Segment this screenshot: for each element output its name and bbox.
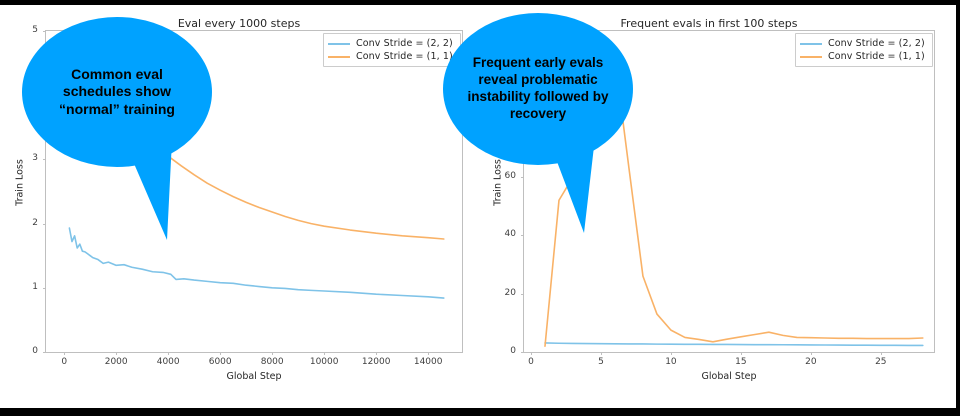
x-tick-label: 10000 xyxy=(299,357,349,367)
x-tick-mark xyxy=(376,352,377,355)
left-legend: Conv Stride = (2, 2) Conv Stride = (1, 1… xyxy=(323,33,461,67)
x-tick-label: 20 xyxy=(786,357,836,367)
x-tick-label: 4000 xyxy=(143,357,193,367)
legend-label: Conv Stride = (1, 1) xyxy=(356,51,453,62)
legend-item-conv-stride-2-2[interactable]: Conv Stride = (2, 2) xyxy=(328,37,455,50)
legend-label: Conv Stride = (2, 2) xyxy=(356,38,453,49)
legend-label: Conv Stride = (2, 2) xyxy=(828,38,925,49)
callout-left: Common eval schedules show “normal” trai… xyxy=(22,17,212,167)
y-tick-mark xyxy=(43,31,46,32)
legend-swatch-blue xyxy=(800,43,822,45)
x-tick-label: 5 xyxy=(576,357,626,367)
right-legend: Conv Stride = (2, 2) Conv Stride = (1, 1… xyxy=(795,33,933,67)
left-xaxis-label: Global Step xyxy=(45,371,463,382)
x-tick-label: 15 xyxy=(716,357,766,367)
callout-right-text: Frequent early evals reveal problematic … xyxy=(443,55,633,123)
legend-item-conv-stride-1-1[interactable]: Conv Stride = (1, 1) xyxy=(328,50,455,63)
right-xaxis-label: Global Step xyxy=(523,371,935,382)
callout-right: Frequent early evals reveal problematic … xyxy=(443,13,633,165)
y-tick-mark xyxy=(43,159,46,160)
legend-swatch-orange xyxy=(328,56,350,58)
x-tick-label: 0 xyxy=(506,357,556,367)
x-tick-mark xyxy=(531,352,532,355)
legend-item-conv-stride-1-1[interactable]: Conv Stride = (1, 1) xyxy=(800,50,927,63)
x-tick-mark xyxy=(881,352,882,355)
y-tick-mark xyxy=(521,294,524,295)
y-tick-label: 0 xyxy=(476,346,516,356)
x-tick-mark xyxy=(272,352,273,355)
slide-canvas: Eval every 1000 steps 020004000600080001… xyxy=(0,5,956,408)
left-yaxis-label: Train Loss xyxy=(15,133,26,233)
x-tick-label: 25 xyxy=(856,357,906,367)
y-tick-mark xyxy=(43,352,46,353)
y-tick-label: 5 xyxy=(0,25,38,35)
x-tick-mark xyxy=(601,352,602,355)
x-tick-label: 2000 xyxy=(91,357,141,367)
legend-swatch-orange xyxy=(800,56,822,58)
x-tick-label: 12000 xyxy=(351,357,401,367)
x-tick-mark xyxy=(220,352,221,355)
callout-left-text: Common eval schedules show “normal” trai… xyxy=(22,66,212,119)
x-tick-mark xyxy=(428,352,429,355)
y-tick-mark xyxy=(43,288,46,289)
y-tick-label: 1 xyxy=(0,282,38,292)
legend-item-conv-stride-2-2[interactable]: Conv Stride = (2, 2) xyxy=(800,37,927,50)
x-tick-mark xyxy=(168,352,169,355)
x-tick-label: 14000 xyxy=(403,357,453,367)
x-tick-label: 10 xyxy=(646,357,696,367)
y-tick-mark xyxy=(521,352,524,353)
x-tick-mark xyxy=(324,352,325,355)
x-tick-label: 0 xyxy=(39,357,89,367)
y-tick-mark xyxy=(43,224,46,225)
y-tick-label: 0 xyxy=(0,346,38,356)
x-tick-label: 8000 xyxy=(247,357,297,367)
x-tick-mark xyxy=(116,352,117,355)
x-tick-mark xyxy=(811,352,812,355)
y-tick-label: 20 xyxy=(476,288,516,298)
x-tick-mark xyxy=(64,352,65,355)
series-line xyxy=(545,343,923,345)
legend-swatch-blue xyxy=(328,43,350,45)
x-tick-mark xyxy=(671,352,672,355)
x-tick-label: 6000 xyxy=(195,357,245,367)
legend-label: Conv Stride = (1, 1) xyxy=(828,51,925,62)
x-tick-mark xyxy=(741,352,742,355)
